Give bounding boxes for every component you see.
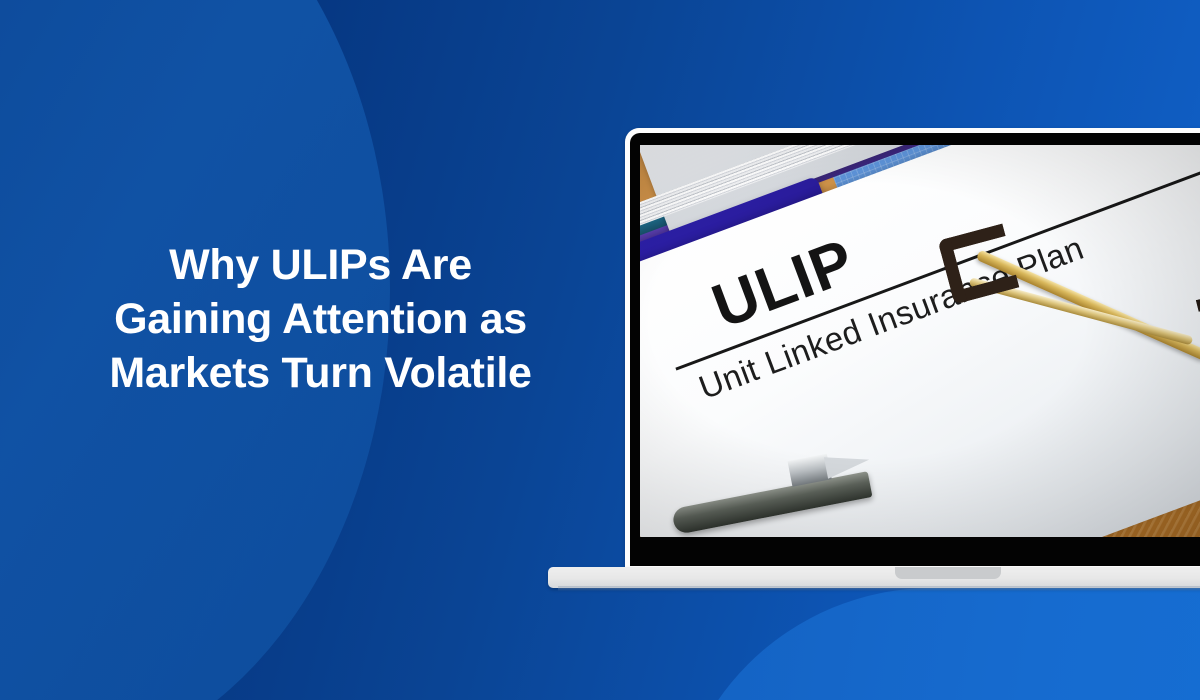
page-title: Why ULIPs Are Gaining Attention as Marke… xyxy=(28,238,613,400)
laptop-mockup: ULIP Unit Linked Insurance Plan xyxy=(548,128,1200,590)
headline-line-2: Gaining Attention as xyxy=(28,292,613,346)
trackpad-notch xyxy=(895,567,1001,579)
laptop-base xyxy=(548,567,1200,588)
decorative-shape-bottom-right xyxy=(672,588,1200,700)
laptop-screen: ULIP Unit Linked Insurance Plan xyxy=(640,145,1200,537)
photo-vignette xyxy=(640,145,1200,537)
headline-line-1: Why ULIPs Are xyxy=(28,238,613,292)
banner-root: Why ULIPs Are Gaining Attention as Marke… xyxy=(0,0,1200,700)
laptop-base-shadow xyxy=(558,586,1200,591)
screen-photo: ULIP Unit Linked Insurance Plan xyxy=(640,145,1200,537)
headline-line-3: Markets Turn Volatile xyxy=(28,346,613,400)
